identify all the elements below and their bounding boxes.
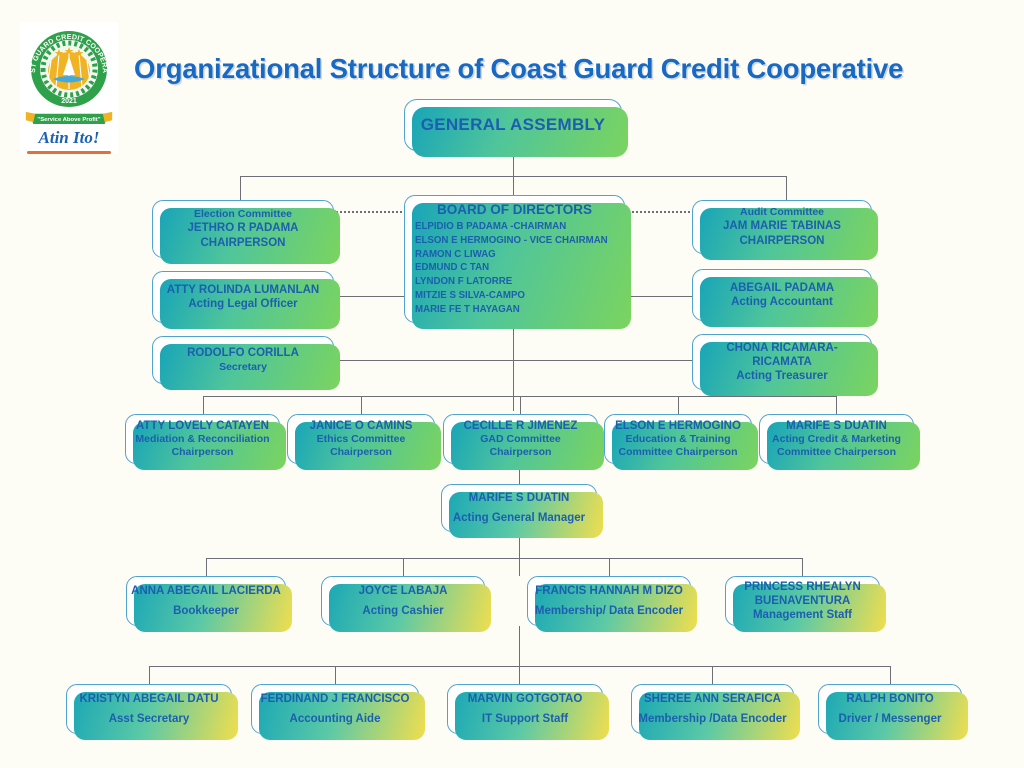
- connector-s2-1-drop: [335, 666, 336, 684]
- logo-seal: COAST GUARD CREDIT COOPERATIVE 2021: [23, 23, 115, 109]
- committee-name: ELSON E HERMOGINO: [615, 419, 741, 433]
- staff-name: FERDINAND J FRANCISCO: [261, 692, 410, 706]
- node-audit-committee[interactable]: Audit Committee JAM MARIE TABINAS CHAIRP…: [692, 200, 872, 254]
- board-member: ELSON E HERMOGINO - VICE CHAIRMAN: [415, 234, 624, 248]
- connector-accountant-line: [627, 296, 692, 297]
- node-board-of-directors[interactable]: BOARD OF DIRECTORS ELPIDIO B PADAMA -CHA…: [404, 195, 625, 323]
- staff-name: KRISTYN ABEGAIL DATU: [79, 692, 218, 706]
- staff-name-line2: BUENAVENTURA: [755, 594, 851, 608]
- connector-legal-line: [336, 296, 404, 297]
- node-management-staff[interactable]: PRINCESS RHEALYN BUENAVENTURA Management…: [725, 576, 880, 626]
- treasurer-role: Acting Treasurer: [736, 369, 827, 383]
- staff-name-line1: PRINCESS RHEALYN: [744, 580, 861, 594]
- board-member: MARIE FE T HAYAGAN: [415, 303, 624, 317]
- general-manager-role: Acting General Manager: [453, 511, 585, 525]
- node-treasurer[interactable]: CHONA RICAMARA- RICAMATA Acting Treasure…: [692, 334, 872, 390]
- committee-role-2: Committee Chairperson: [777, 446, 896, 459]
- node-accounting-aide[interactable]: FERDINAND J FRANCISCO Accounting Aide: [251, 684, 419, 734]
- org-chart-canvas: COAST GUARD CREDIT COOPERATIVE 2021 "Ser…: [0, 0, 1024, 768]
- connector-s1-2-drop: [609, 558, 610, 576]
- legal-officer-role: Acting Legal Officer: [188, 297, 297, 311]
- node-general-assembly[interactable]: GENERAL ASSEMBLY: [404, 99, 622, 151]
- node-committee-mediation[interactable]: ATTY LOVELY CATAYEN Mediation & Reconcil…: [125, 414, 280, 464]
- connector-comm-3-drop: [678, 396, 679, 414]
- committee-name: MARIFE S DUATIN: [786, 419, 887, 433]
- staff-role: Membership/ Data Encoder: [535, 604, 683, 618]
- staff-role: Membership /Data Encoder: [638, 712, 786, 726]
- connector-bod-audit-dotted: [627, 211, 690, 213]
- committee-role-2: Chairperson: [490, 446, 552, 459]
- node-general-manager[interactable]: MARIFE S DUATIN Acting General Manager: [441, 484, 597, 532]
- accountant-name: ABEGAIL PADAMA: [730, 281, 834, 295]
- connector-staff1-bus: [206, 558, 803, 559]
- connector-s2-4-drop: [890, 666, 891, 684]
- connector-comm-2-drop: [520, 396, 521, 414]
- node-asst-secretary[interactable]: KRISTYN ABEGAIL DATU Asst Secretary: [66, 684, 232, 734]
- connector-bod-spine: [513, 323, 514, 411]
- committee-name: ATTY LOVELY CATAYEN: [136, 419, 269, 433]
- election-committee-label: Election Committee: [194, 208, 292, 221]
- cooperative-logo: COAST GUARD CREDIT COOPERATIVE 2021 "Ser…: [20, 22, 118, 154]
- connector-s1-0-drop: [206, 558, 207, 576]
- node-it-support-staff[interactable]: MARVIN GOTGOTAO IT Support Staff: [447, 684, 603, 734]
- node-accountant[interactable]: ABEGAIL PADAMA Acting Accountant: [692, 269, 872, 321]
- audit-chairperson-name: JAM MARIE TABINAS: [723, 219, 841, 233]
- connector-s2-0-drop: [149, 666, 150, 684]
- connector-ga-right-drop: [786, 176, 787, 200]
- node-bookkeeper[interactable]: ANNA ABEGAIL LACIERDA Bookkeeper: [126, 576, 286, 626]
- node-committee-ethics[interactable]: JANICE O CAMINS Ethics Committee Chairpe…: [287, 414, 435, 464]
- node-legal-officer[interactable]: ATTY ROLINDA LUMANLAN Acting Legal Offic…: [152, 271, 334, 323]
- staff-role: Management Staff: [753, 608, 852, 622]
- node-committee-education[interactable]: ELSON E HERMOGINO Education & Training C…: [604, 414, 752, 464]
- staff-role: Bookkeeper: [173, 604, 239, 618]
- staff-role: Driver / Messenger: [839, 712, 942, 726]
- treasurer-name-line1: CHONA RICAMARA-: [726, 341, 837, 355]
- node-committee-gad[interactable]: CECILLE R JIMENEZ GAD Committee Chairper…: [443, 414, 598, 464]
- accountant-role: Acting Accountant: [731, 295, 833, 309]
- election-chairperson-name: JETHRO R PADAMA: [188, 221, 299, 235]
- committee-role-1: Mediation & Reconciliation: [135, 433, 269, 446]
- connector-s1-3-drop: [802, 558, 803, 576]
- connector-ga-mid-drop: [513, 176, 514, 195]
- staff-name: MARVIN GOTGOTAO: [468, 692, 583, 706]
- secretary-name: RODOLFO CORILLA: [187, 346, 299, 360]
- connector-secretary-line: [336, 360, 513, 361]
- audit-committee-label: Audit Committee: [740, 206, 824, 219]
- committee-role-1: GAD Committee: [480, 433, 561, 446]
- node-data-encoder-serafica[interactable]: SHEREE ANN SERAFICA Membership /Data Enc…: [631, 684, 794, 734]
- staff-role: Acting Cashier: [362, 604, 443, 618]
- board-member: LYNDON F LATORRE: [415, 275, 624, 289]
- staff-role: Asst Secretary: [109, 712, 190, 726]
- connector-gm-down: [519, 532, 520, 576]
- node-data-encoder-dizo[interactable]: FRANCIS HANNAH M DIZO Membership/ Data E…: [527, 576, 691, 626]
- connector-spine-to-staff2: [519, 626, 520, 666]
- connector-treasurer-line: [513, 360, 692, 361]
- audit-chairperson-role: CHAIRPERSON: [740, 234, 825, 248]
- connector-comm-0-drop: [203, 396, 204, 414]
- node-committee-credit-marketing[interactable]: MARIFE S DUATIN Acting Credit & Marketin…: [759, 414, 914, 464]
- board-member: EDMUND C TAN: [415, 261, 624, 275]
- connector-s2-2-drop: [519, 666, 520, 684]
- logo-motto: Atin Ito!: [39, 129, 100, 146]
- board-member: ELPIDIO B PADAMA -CHAIRMAN: [415, 220, 624, 234]
- committee-role-2: Committee Chairperson: [618, 446, 737, 459]
- treasurer-name-line2: RICAMATA: [752, 355, 812, 369]
- committee-role-1: Education & Training: [625, 433, 730, 446]
- connector-s2-3-drop: [712, 666, 713, 684]
- staff-name: ANNA ABEGAIL LACIERDA: [131, 584, 281, 598]
- node-driver-messenger[interactable]: RALPH BONITO Driver / Messenger: [818, 684, 962, 734]
- connector-comm-1-drop: [361, 396, 362, 414]
- committee-role-2: Chairperson: [330, 446, 392, 459]
- board-member: MITZIE S SILVA-CAMPO: [415, 289, 624, 303]
- committee-name: JANICE O CAMINS: [310, 419, 413, 433]
- committee-name: CECILLE R JIMENEZ: [464, 419, 578, 433]
- staff-name: JOYCE LABAJA: [359, 584, 448, 598]
- committee-role-1: Ethics Committee: [317, 433, 406, 446]
- legal-officer-name: ATTY ROLINDA LUMANLAN: [167, 283, 319, 297]
- page-title: Organizational Structure of Coast Guard …: [134, 53, 934, 85]
- staff-role: IT Support Staff: [482, 712, 568, 726]
- board-title: BOARD OF DIRECTORS: [437, 202, 592, 217]
- ribbon-text: "Service Above Profit": [37, 118, 100, 124]
- connector-ga-left-drop: [240, 176, 241, 200]
- election-chairperson-role: CHAIRPERSON: [201, 236, 286, 250]
- secretary-role: Secretary: [219, 361, 267, 374]
- seal-icon: COAST GUARD CREDIT COOPERATIVE 2021: [23, 23, 115, 115]
- committee-role-1: Acting Credit & Marketing: [772, 433, 901, 446]
- connector-s1-1-drop: [403, 558, 404, 576]
- node-cashier[interactable]: JOYCE LABAJA Acting Cashier: [321, 576, 485, 626]
- connector-bod-election-dotted: [336, 211, 402, 213]
- seal-year: 2021: [61, 98, 77, 105]
- node-election-committee[interactable]: Election Committee JETHRO R PADAMA CHAIR…: [152, 200, 334, 258]
- staff-name: FRANCIS HANNAH M DIZO: [535, 584, 683, 598]
- node-secretary[interactable]: RODOLFO CORILLA Secretary: [152, 336, 334, 384]
- staff-name: SHEREE ANN SERAFICA: [644, 692, 781, 706]
- general-assembly-label: GENERAL ASSEMBLY: [421, 115, 606, 136]
- staff-role: Accounting Aide: [290, 712, 381, 726]
- staff-name: RALPH BONITO: [846, 692, 933, 706]
- connector-comm-4-drop: [836, 396, 837, 414]
- board-member-list: ELPIDIO B PADAMA -CHAIRMAN ELSON E HERMO…: [405, 220, 624, 316]
- general-manager-name: MARIFE S DUATIN: [469, 491, 570, 505]
- committee-role-2: Chairperson: [172, 446, 234, 459]
- board-member: RAMON C LIWAG: [415, 248, 624, 262]
- logo-underline: [27, 151, 111, 154]
